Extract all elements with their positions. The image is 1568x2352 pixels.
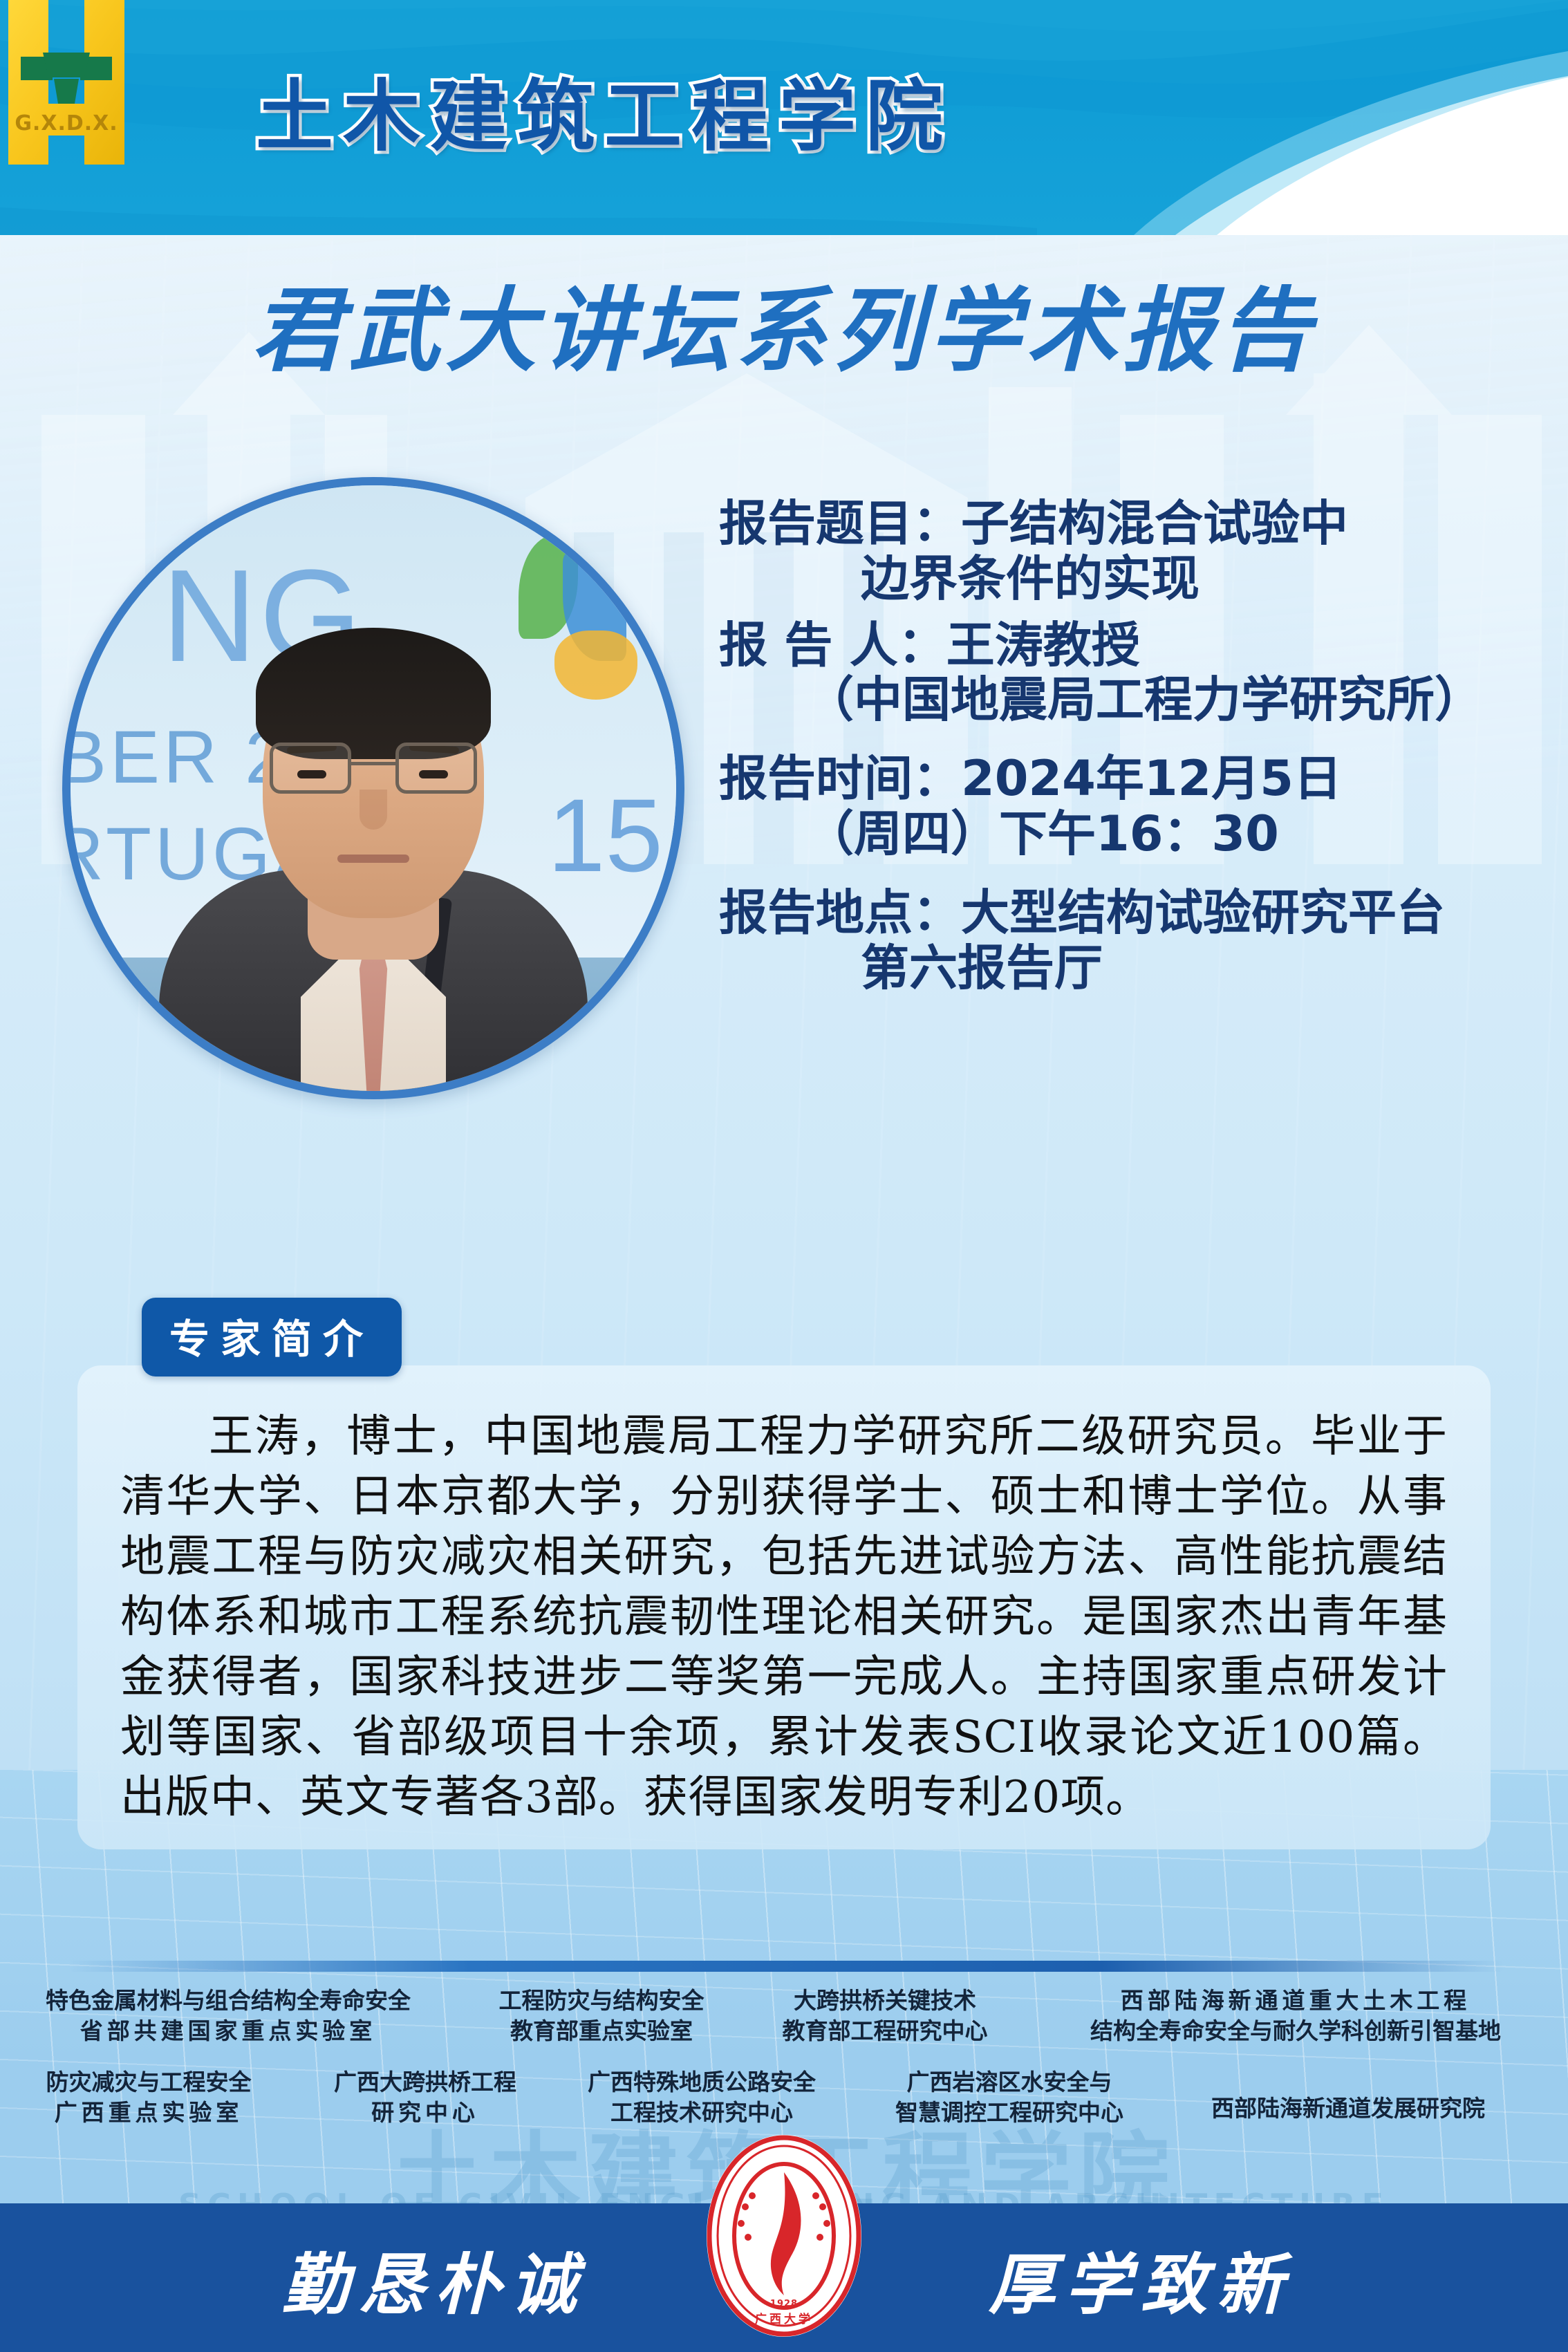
- lab-line-2: 工程技术研究中心: [553, 2098, 850, 2128]
- labs-row-2: 防灾减灾与工程安全 广西重点实验室 广西大跨拱桥工程 研究中心 广西特殊地质公路…: [0, 2067, 1568, 2128]
- speaker-photo: NG BER 201 RTUGA 15: [62, 477, 684, 1099]
- lab-item: 西部陆海新通道发展研究院: [1168, 2067, 1528, 2128]
- lab-line-2: 教育部重点实验室: [456, 2016, 747, 2046]
- lab-line-2: 智慧调控工程研究中心: [850, 2098, 1168, 2128]
- labs-row-1: 特色金属材料与组合结构全寿命安全 省部共建国家重点实验室 工程防灾与结构安全 教…: [0, 1986, 1568, 2046]
- lab-item: 工程防灾与结构安全 教育部重点实验室: [456, 1986, 747, 2046]
- footer-slogan-right: 厚学致新: [989, 2231, 1293, 2327]
- lab-item: 防灾减灾与工程安全 广西重点实验室: [0, 2067, 297, 2128]
- lab-item: 西部陆海新通道重大土木工程 结构全寿命安全与耐久学科创新引智基地: [1023, 1986, 1568, 2046]
- lab-line-1: 广西特殊地质公路安全: [553, 2067, 850, 2098]
- expert-profile-badge: 专家简介: [142, 1298, 402, 1376]
- time-row: 报告时间：2024年12月5日: [719, 752, 1535, 807]
- gxdx-shield-logo: G.X.D.X.: [0, 0, 133, 165]
- speaker-portrait: [71, 485, 676, 1091]
- lab-line-1: 广西岩溶区水安全与: [850, 2067, 1168, 2098]
- place-line-1: 大型结构试验研究平台: [961, 884, 1445, 941]
- speaker-row: 报 告 人：王涛教授: [719, 618, 1535, 673]
- lab-line-2: 教育部工程研究中心: [747, 2016, 1023, 2046]
- talk-details: 报告题目：子结构混合试验中 边界条件的实现 报 告 人：王涛教授 （中国地震局工…: [719, 496, 1535, 996]
- college-name-heading: 土木建筑工程学院: [256, 54, 953, 166]
- lab-line-2: 结构全寿命安全与耐久学科创新引智基地: [1023, 2016, 1568, 2046]
- labs-divider: [68, 1961, 1504, 1972]
- time-line-2: （周四）下午16：30: [719, 807, 1535, 862]
- speaker-name: 王涛教授: [946, 617, 1140, 673]
- lab-line-1: 防灾减灾与工程安全: [0, 2067, 297, 2098]
- lab-item: 广西特殊地质公路安全 工程技术研究中心: [553, 2067, 850, 2128]
- place-row: 报告地点：大型结构试验研究平台: [719, 886, 1535, 941]
- seal-name-text: 广西大学: [755, 2312, 813, 2326]
- time-line-1: 2024年12月5日: [961, 750, 1342, 807]
- lab-line-1: 西部陆海新通道重大土木工程: [1023, 1986, 1568, 2016]
- expert-bio-card: 王涛，博士，中国地震局工程力学研究所二级研究员。毕业于清华大学、日本京都大学，分…: [77, 1365, 1491, 1849]
- lab-line-1: 广西大跨拱桥工程: [297, 2067, 553, 2098]
- topic-line-2: 边界条件的实现: [719, 552, 1535, 607]
- lab-item: 大跨拱桥关键技术 教育部工程研究中心: [747, 1986, 1023, 2046]
- seal-year-text: 1928: [770, 2299, 798, 2309]
- lab-item: 特色金属材料与组合结构全寿命安全 省部共建国家重点实验室: [0, 1986, 456, 2046]
- footer-slogan-left: 勤恳朴诚: [282, 2231, 586, 2327]
- lab-line-1: 大跨拱桥关键技术: [747, 1986, 1023, 2016]
- lab-line-1: 特色金属材料与组合结构全寿命安全: [0, 1986, 456, 2016]
- topic-line-1: 子结构混合试验中: [961, 495, 1348, 552]
- lab-line-2: 广西重点实验室: [0, 2098, 297, 2128]
- page-header: G.X.D.X. 土木建筑工程学院: [0, 0, 1568, 235]
- place-line-2: 第六报告厅: [719, 941, 1535, 996]
- speaker-affiliation: （中国地震局工程力学研究所）: [719, 673, 1535, 728]
- guangxi-university-seal: 1928 广西大学: [701, 2132, 867, 2340]
- time-label: 报告时间：: [719, 750, 961, 807]
- place-label: 报告地点：: [719, 884, 961, 941]
- lab-line-1: 工程防灾与结构安全: [456, 1986, 747, 2016]
- glasses-icon: [270, 743, 477, 794]
- expert-bio-text: 王涛，博士，中国地震局工程力学研究所二级研究员。毕业于清华大学、日本京都大学，分…: [120, 1407, 1448, 1828]
- speaker-label: 报 告 人：: [719, 617, 946, 673]
- logo-abbreviation-text: G.X.D.X.: [15, 111, 118, 136]
- lab-line-1: 西部陆海新通道发展研究院: [1168, 2093, 1528, 2124]
- lab-line-2: 省部共建国家重点实验室: [0, 2016, 456, 2046]
- topic-row: 报告题目：子结构混合试验中: [719, 496, 1535, 552]
- topic-label: 报告题目：: [719, 495, 961, 552]
- lab-item: 广西岩溶区水安全与 智慧调控工程研究中心: [850, 2067, 1168, 2128]
- lab-line-2: 研究中心: [297, 2098, 553, 2128]
- page-title: 君武大讲坛系列学术报告: [0, 257, 1568, 389]
- poster-root: 土木建筑工程学院 SCHOOL OF CIVIL ENGINEERING AND…: [0, 0, 1568, 2352]
- lab-item: 广西大跨拱桥工程 研究中心: [297, 2067, 553, 2128]
